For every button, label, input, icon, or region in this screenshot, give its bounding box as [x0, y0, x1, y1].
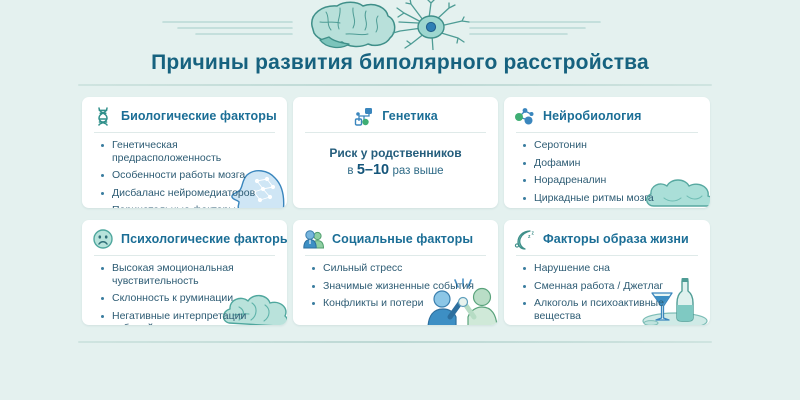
bullet-list: Нарушение сна Сменная работа / Джетлаг А…	[514, 262, 700, 322]
card-psychological[interactable]: Психологические факторы Высокая эмоциона…	[82, 220, 287, 325]
header-separator	[305, 132, 486, 133]
infographic-page: Причины развития биполярного расстройств…	[0, 0, 800, 400]
card-header: Биологические факторы	[92, 105, 277, 132]
card-header: z z Факторы образа жизни	[514, 228, 700, 255]
molecule-icon	[514, 105, 536, 127]
header-artwork	[0, 0, 800, 50]
card-genetics[interactable]: Генетика Риск у родственников в 5–10 раз…	[293, 97, 498, 208]
header-separator	[94, 255, 275, 256]
list-item: Особенности работы мозга	[100, 169, 277, 182]
list-item: Норадреналин	[522, 174, 700, 187]
list-item: Циркадные ритмы мозга	[522, 192, 700, 205]
list-item: Алкоголь и психоактивные вещества	[522, 297, 700, 322]
list-item: Склонность к руминации	[100, 292, 277, 305]
list-item: Сменная работа / Джетлаг	[522, 280, 700, 293]
card-title: Факторы образа жизни	[543, 232, 689, 246]
cards-grid: Биологические факторы Генетическая предр…	[82, 97, 710, 325]
neuron-nucleus-icon	[426, 22, 435, 31]
card-header: Социальные факторы	[303, 228, 488, 255]
list-item: Конфликты и потери	[311, 297, 488, 310]
card-social[interactable]: Социальные факторы Сильны	[293, 220, 498, 325]
bullet-list: Сильный стресс Значимые жизненные событи…	[303, 262, 488, 310]
speed-lines-right-icon	[470, 22, 600, 34]
sad-face-icon	[92, 228, 114, 250]
svg-text:z: z	[532, 231, 535, 237]
card-header: Генетика	[303, 105, 488, 132]
bullet-list: Серотонин Дофамин Норадреналин Циркадные…	[514, 139, 700, 204]
list-item: Генетическая предрасположенность	[100, 139, 277, 164]
card-lifestyle[interactable]: z z Факторы образа жизни	[504, 220, 710, 325]
list-item: Негативные интерпретации событий	[100, 310, 277, 326]
two-people-icon	[303, 228, 325, 250]
page-title: Причины развития биполярного расстройств…	[0, 51, 800, 75]
list-item: Значимые жизненные события	[311, 280, 488, 293]
hierarchy-tree-icon	[353, 105, 375, 127]
card-header: Психологические факторы	[92, 228, 277, 255]
card-title: Психологические факторы	[121, 232, 287, 246]
card-biological[interactable]: Биологические факторы Генетическая предр…	[82, 97, 287, 208]
header-separator	[305, 255, 486, 256]
genetics-risk-line1: Риск у родственников	[303, 145, 488, 162]
header-separator	[94, 132, 275, 133]
list-item: Нарушение сна	[522, 262, 700, 275]
card-title: Нейробиология	[543, 109, 642, 123]
divider-top	[78, 84, 712, 86]
genetics-risk-line2: в 5–10 раз выше	[303, 162, 488, 180]
list-item: Дофамин	[522, 157, 700, 170]
card-title: Биологические факторы	[121, 109, 277, 123]
genetics-risk-in: в	[347, 165, 353, 177]
dna-icon	[92, 105, 114, 127]
list-item: Серотонин	[522, 139, 700, 152]
genetics-risk-statement: Риск у родственников в 5–10 раз выше	[303, 139, 488, 180]
genetics-risk-suffix: раз выше	[392, 165, 443, 177]
speed-lines-left-icon	[163, 22, 292, 34]
card-title: Генетика	[382, 109, 438, 123]
header-separator	[516, 255, 698, 256]
list-item: Перинатальные факторы	[100, 204, 277, 208]
card-neurobiology[interactable]: Нейробиология Серотонин Дофамин Норадрен…	[504, 97, 710, 208]
list-item: Сильный стресс	[311, 262, 488, 275]
bullet-list: Высокая эмоциональная чувствительность С…	[92, 262, 277, 325]
divider-bottom	[78, 341, 712, 343]
list-item: Дисбаланс нейромедиаторов	[100, 187, 277, 200]
crescent-moon-sleep-icon: z z	[514, 228, 536, 250]
header-separator	[516, 132, 698, 133]
card-title: Социальные факторы	[332, 232, 473, 246]
list-item: Высокая эмоциональная чувствительность	[100, 262, 277, 287]
bullet-list: Генетическая предрасположенность Особенн…	[92, 139, 277, 208]
genetics-risk-value: 5–10	[357, 162, 389, 178]
card-header: Нейробиология	[514, 105, 700, 132]
brain-illustration-icon	[312, 2, 395, 47]
